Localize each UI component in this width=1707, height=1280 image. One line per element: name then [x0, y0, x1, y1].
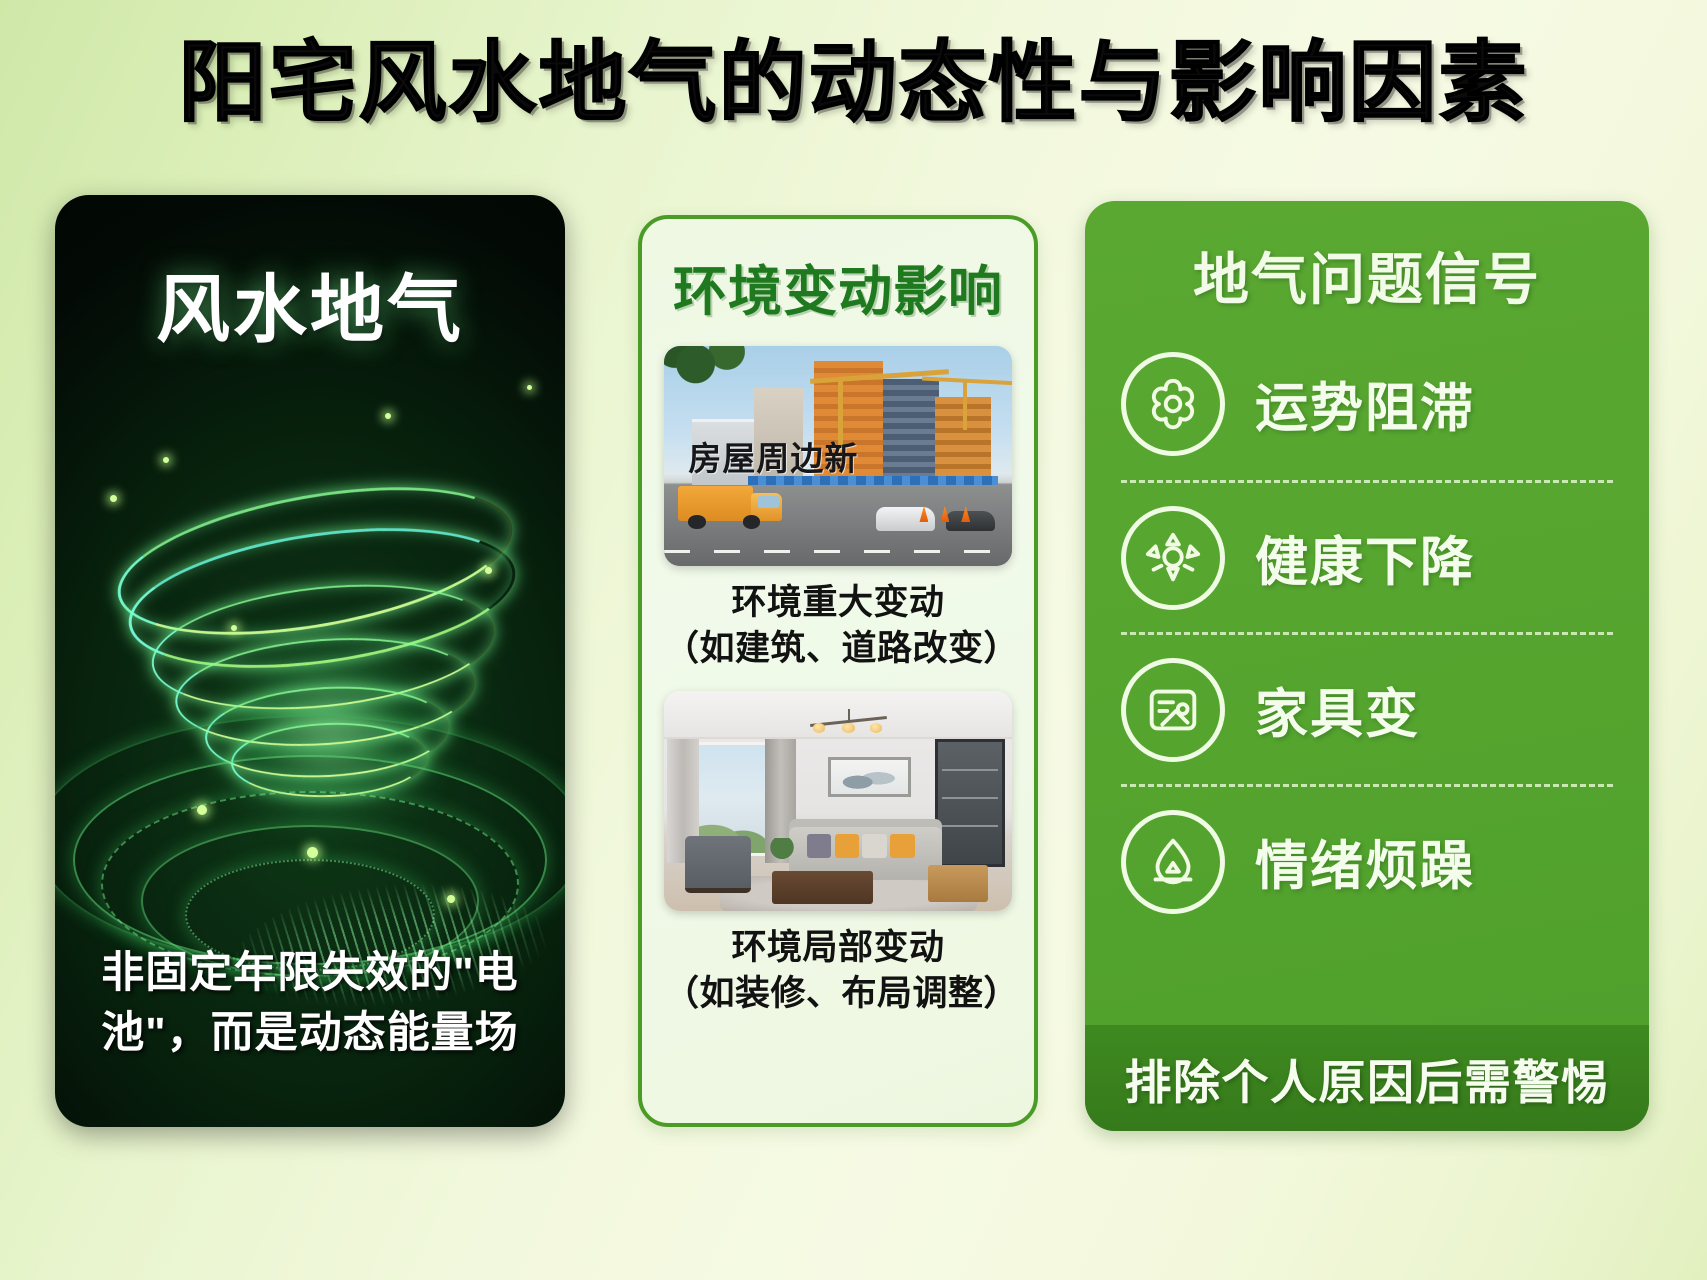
lamp-bulb — [813, 723, 825, 732]
truck-window — [758, 496, 779, 507]
photo-overlay-text: 房屋周边新 — [688, 432, 858, 480]
environment-major-change-caption: 环境重大变动 （如建筑、道路改变） — [664, 580, 1012, 671]
shelving-unit — [935, 739, 1005, 867]
shelf — [942, 797, 998, 799]
spark-dot — [485, 567, 492, 574]
caption-main: 环境重大变动 — [731, 583, 944, 622]
coffee-table — [772, 871, 873, 904]
caption-sub: （如装修、布局调整） — [664, 971, 1012, 1017]
signal-row-yunshi-zuzhi[interactable]: 运势阻滞 — [1121, 328, 1613, 480]
left-panel-heading: 风水地气 — [55, 250, 565, 357]
spark-dot — [163, 457, 169, 463]
spark-dot — [231, 625, 237, 631]
flower-gear-icon — [1121, 352, 1225, 456]
signal-row-qingxu-fanzao[interactable]: 情绪烦躁 — [1121, 784, 1613, 936]
water-drop-icon — [1121, 810, 1225, 914]
signal-list: 运势阻滞 健康下降 — [1085, 328, 1649, 936]
environment-local-change-caption: 环境局部变动 （如装修、布局调整） — [664, 925, 1012, 1016]
side-table — [928, 865, 987, 902]
environment-major-change-block: 房屋周边新 环境重大变动 （如建筑、道路改变） — [642, 346, 1034, 671]
lamp-bulb — [842, 723, 854, 732]
panels-container: 风水地气 非固定年限失效的"电池"，而是动态能量场 环境变动影响 — [0, 195, 1707, 1130]
shelf — [942, 825, 998, 827]
spark-dot — [527, 385, 532, 390]
infographic-poster: 阳宅风水地气的动态性与影响因素 — [0, 0, 1707, 1280]
signal-label: 健康下降 — [1255, 520, 1475, 596]
pillow — [890, 834, 914, 858]
spark-dot — [307, 847, 318, 858]
spark-dot — [447, 895, 455, 903]
living-room-interior-photo — [664, 691, 1012, 911]
caption-sub: （如建筑、道路改变） — [664, 626, 1012, 672]
construction-site-photo: 房屋周边新 — [664, 346, 1012, 566]
picture-card-icon — [1121, 658, 1225, 762]
wall-art — [828, 757, 912, 797]
pillow — [862, 834, 886, 858]
signal-label: 情绪烦躁 — [1255, 824, 1475, 900]
signal-label: 运势阻滞 — [1255, 366, 1475, 442]
panel-fengshui-diqi: 风水地气 非固定年限失效的"电池"，而是动态能量场 — [55, 195, 565, 1127]
shelf — [942, 769, 998, 771]
spark-dot — [197, 805, 207, 815]
page-title: 阳宅风水地气的动态性与影响因素 — [0, 34, 1707, 133]
sun-radiate-icon — [1121, 506, 1225, 610]
right-panel-heading: 地气问题信号 — [1085, 235, 1649, 316]
left-panel-caption: 非固定年限失效的"电池"，而是动态能量场 — [79, 943, 541, 1063]
road-markings — [664, 550, 1012, 553]
truck-wheel — [688, 515, 706, 528]
armchair — [685, 836, 751, 893]
right-panel-footer-banner: 排除个人原因后需警惕 — [1085, 1025, 1649, 1131]
pillow — [835, 834, 859, 858]
environment-local-change-block: 环境局部变动 （如装修、布局调整） — [642, 691, 1034, 1016]
building — [883, 379, 939, 485]
panel-environment-change: 环境变动影响 — [638, 215, 1038, 1127]
tree-foliage — [664, 346, 758, 386]
signal-row-jiankang-xiajiang[interactable]: 健康下降 — [1121, 480, 1613, 632]
chandelier-icon — [810, 709, 887, 738]
signal-row-jiaju-bian[interactable]: 家具变 — [1121, 632, 1613, 784]
truck-wheel — [743, 515, 761, 528]
panel-diqi-signals: 地气问题信号 运势阻滞 — [1085, 201, 1649, 1131]
lamp-bulb — [870, 723, 882, 732]
plant — [768, 838, 796, 869]
spark-dot — [110, 495, 117, 502]
car — [946, 511, 995, 531]
crane-icon — [963, 381, 967, 429]
truck-body — [678, 486, 753, 520]
truck — [678, 485, 782, 529]
pillow — [807, 834, 831, 858]
spark-dot — [385, 413, 391, 419]
middle-panel-heading: 环境变动影响 — [642, 247, 1034, 326]
signal-label: 家具变 — [1255, 672, 1420, 748]
caption-main: 环境局部变动 — [731, 928, 944, 967]
